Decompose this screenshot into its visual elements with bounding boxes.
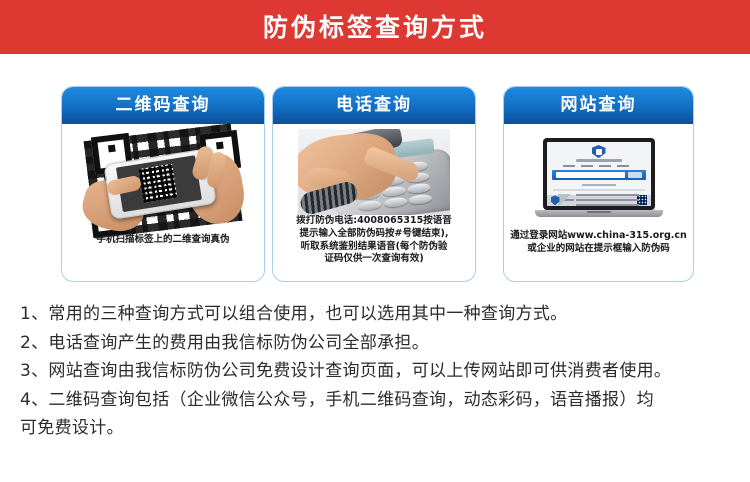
method-card-website-caption: 通过登录网站www.china-315.org.cn 或企业的网站在提示框输入防… [504,230,693,256]
notes-list: 1、常用的三种查询方式可以组合使用，也可以选用其中一种查询方式。 2、电话查询产… [0,300,750,443]
method-card-qrcode-header: 二维码查询 [62,87,264,124]
method-card-website-body: 通过登录网站www.china-315.org.cn 或企业的网站在提示框输入防… [504,124,693,282]
qrcode-scan-illustration [83,130,243,234]
page-banner: 防伪标签查询方式 [0,0,750,54]
method-card-qrcode-title: 二维码查询 [116,97,211,114]
site-name-placeholder [576,159,622,162]
method-card-phone-body: 拨打防伪电话:4008065315按语音 提示输入全部防伪码按#号键结束), 听… [273,124,475,282]
note-item: 4、二维码查询包括（企业微信公众号，手机二维码查询，动态彩码，语音播报）均 可免… [20,386,730,443]
method-card-phone-header: 电话查询 [273,87,475,124]
method-card-website-title: 网站查询 [561,97,637,114]
laptop-screen [547,142,651,206]
result-panel-placeholder [553,189,645,191]
note-item: 2、电话查询产生的费用由我信标防伪公司全部承担。 [20,329,730,358]
method-card-qrcode[interactable]: 二维码查询 手机扫描标签上的二维查询真伪 [61,86,265,282]
shield-logo-icon [592,145,606,158]
sub-text-placeholder [582,184,616,186]
query-submit-placeholder [628,172,642,178]
query-methods-row: 二维码查询 手机扫描标签上的二维查询真伪 [0,86,750,286]
method-card-qrcode-body: 手机扫描标签上的二维查询真伪 [62,124,264,282]
site-nav-placeholder [563,165,635,168]
method-card-website[interactable]: 网站查询 [503,86,694,282]
code-input-placeholder [556,172,625,178]
note-item: 1、常用的三种查询方式可以组合使用，也可以选用其中一种查询方式。 [20,300,730,329]
laptop-base [535,210,663,217]
laptop-lid [543,138,655,210]
method-card-phone[interactable]: 电话查询 拨打防伪电话:4008065315按语音 提示输入全部防伪码按#号键结… [272,86,476,282]
laptop-website-illustration [535,138,663,230]
method-card-phone-title: 电话查询 [336,97,412,114]
telephone-dialing-illustration [298,129,450,215]
method-card-phone-caption: 拨打防伪电话:4008065315按语音 提示输入全部防伪码按#号键结束), 听… [273,215,475,266]
panel-text-lines [576,194,639,206]
note-item: 3、网站查询由我信标防伪公司免费设计查询页面，可以上传网站即可供消费者使用。 [20,357,730,386]
page-title: 防伪标签查询方式 [263,15,487,40]
query-bar [552,170,646,180]
scanned-qr-icon [138,164,177,203]
method-card-website-header: 网站查询 [504,87,693,124]
